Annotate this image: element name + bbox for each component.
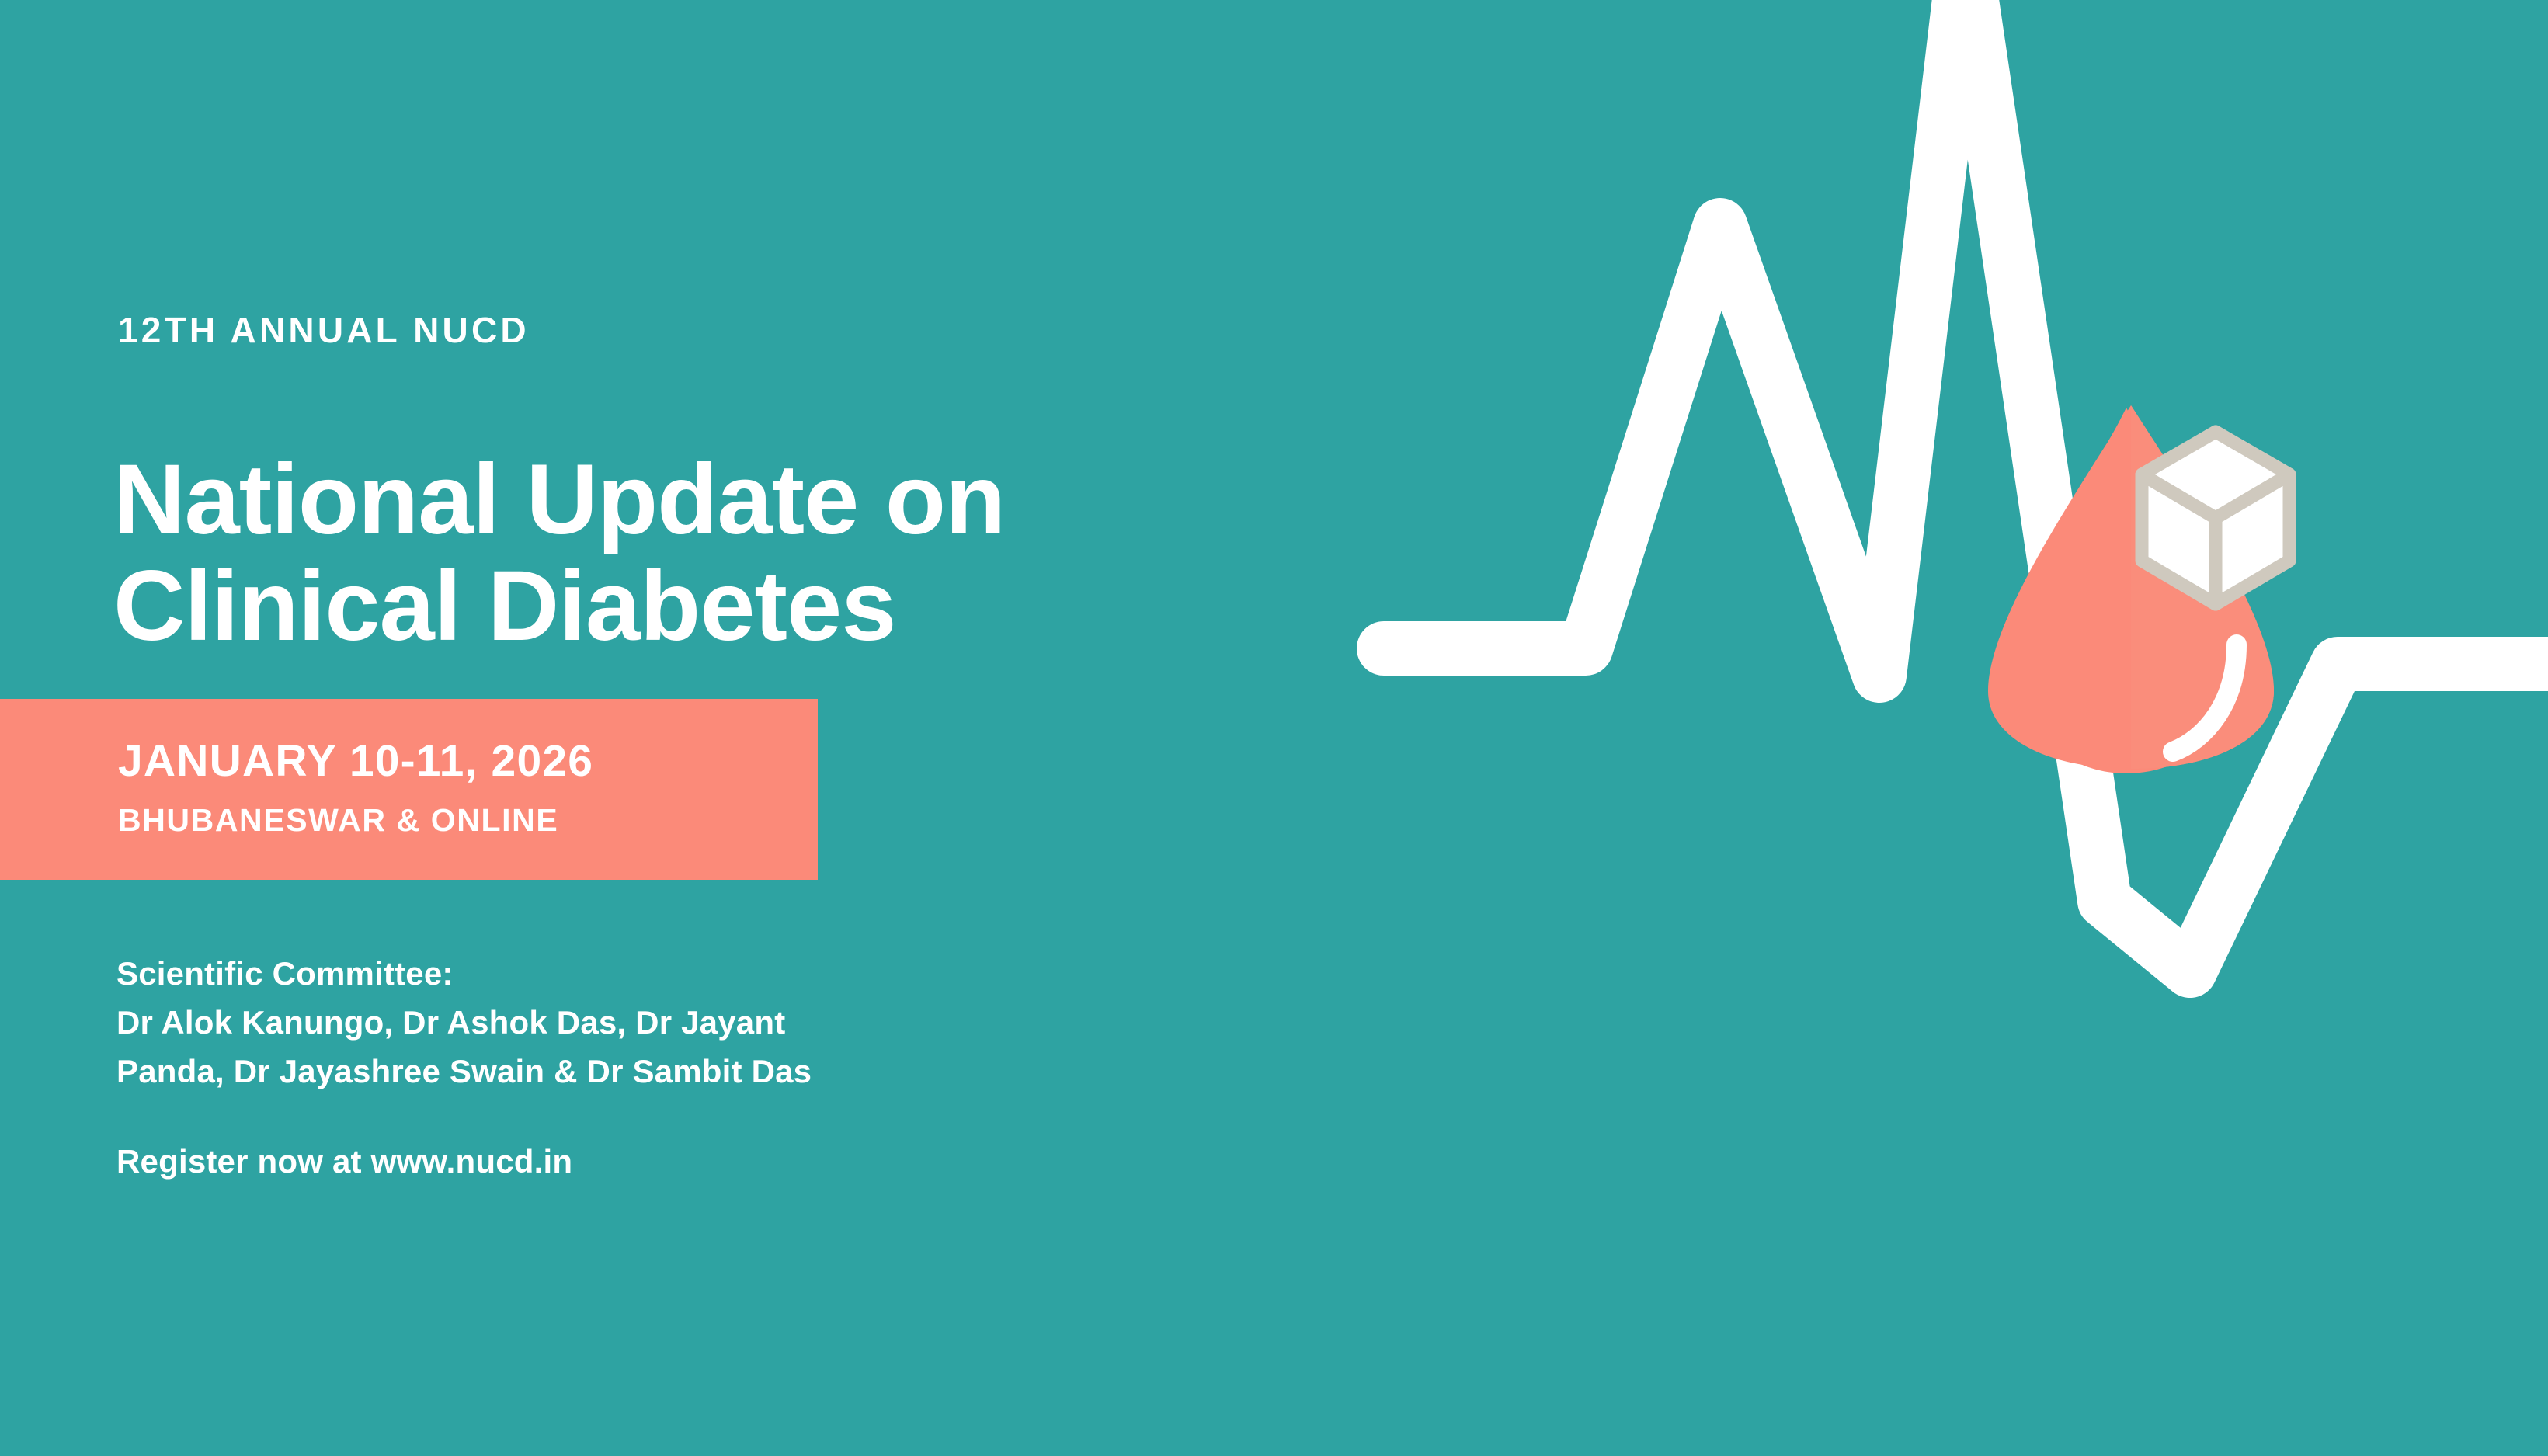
scientific-committee: Scientific Committee: Dr Alok Kanungo, D… <box>116 949 1048 1096</box>
committee-line-1: Dr Alok Kanungo, Dr Ashok Das, Dr Jayant <box>116 998 1048 1047</box>
title-line-2: Clinical Diabetes <box>113 554 1224 660</box>
eyebrow-text: 12TH ANNUAL NUCD <box>118 312 530 348</box>
ecg-heartbeat-line <box>1384 0 2548 971</box>
date-venue-banner: JANUARY 10-11, 2026 BHUBANESWAR & ONLINE <box>0 699 818 880</box>
page-title: National Update on Clinical Diabetes <box>113 447 1224 660</box>
event-venue: BHUBANESWAR & ONLINE <box>118 804 558 836</box>
sugar-cube <box>2142 432 2289 604</box>
drop-highlight-arc <box>2173 645 2237 752</box>
committee-line-2: Panda, Dr Jayashree Swain & Dr Sambit Da… <box>116 1047 1048 1096</box>
title-line-1: National Update on <box>113 447 1224 554</box>
conference-banner: 12TH ANNUAL NUCD National Update on Clin… <box>0 0 2548 1456</box>
blood-drop <box>1988 405 2274 773</box>
register-cta[interactable]: Register now at www.nucd.in <box>116 1145 572 1178</box>
text-column: 12TH ANNUAL NUCD National Update on Clin… <box>0 0 1243 1456</box>
committee-label: Scientific Committee: <box>116 949 1048 998</box>
event-date: JANUARY 10-11, 2026 <box>118 739 593 784</box>
